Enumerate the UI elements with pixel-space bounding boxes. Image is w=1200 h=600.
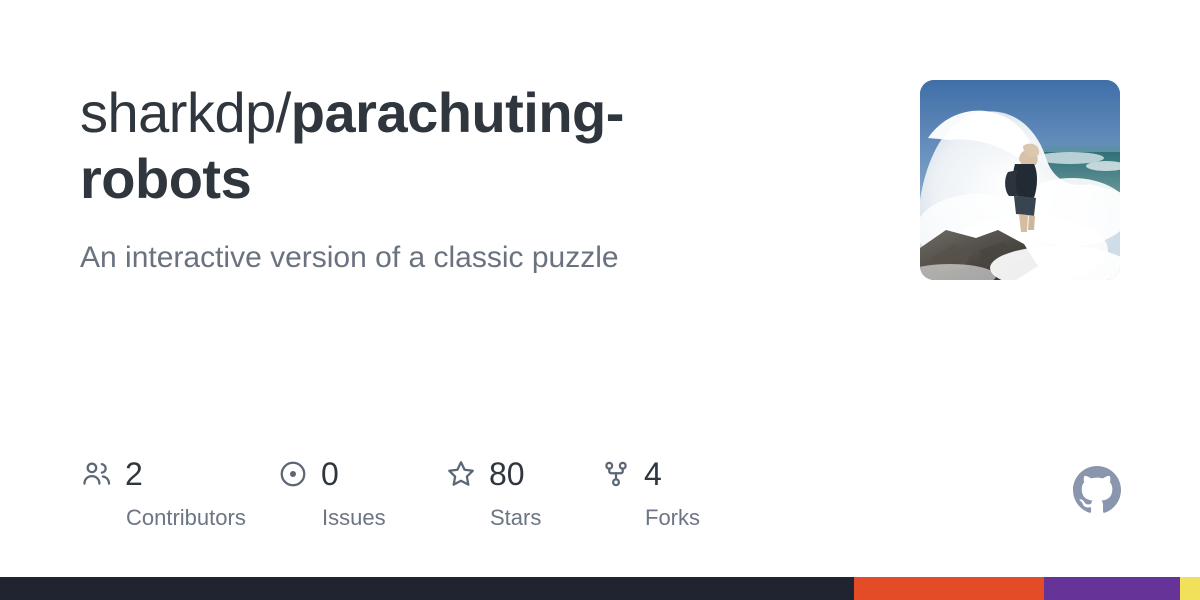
page-title: sharkdp/parachuting-robots [80,80,740,212]
repository-avatar [920,80,1120,280]
repository-social-card: sharkdp/parachuting-robots An interactiv… [0,0,1200,600]
repository-separator: / [276,81,291,144]
people-icon [80,457,114,491]
repo-forked-icon [599,457,633,491]
issue-opened-icon [276,457,310,491]
stat-issues-label: Issues [276,505,444,531]
stat-stars-label: Stars [444,505,599,531]
language-segment-3 [1044,577,1180,600]
stat-stars: 80 Stars [444,452,599,531]
stat-contributors-label: Contributors [80,505,276,531]
language-segment-2 [854,577,1044,600]
stat-stars-top: 80 [444,452,525,496]
stat-stars-value: 80 [489,458,525,490]
repository-description: An interactive version of a classic puzz… [80,212,780,277]
repository-stats: 2 Contributors 0 Issues [80,452,739,531]
repository-header: sharkdp/parachuting-robots An interactiv… [80,80,880,277]
stat-forks-top: 4 [599,452,662,496]
stat-contributors-value: 2 [125,458,143,490]
stat-contributors: 2 Contributors [80,452,276,531]
repository-owner: sharkdp [80,81,276,144]
stat-issues-value: 0 [321,458,339,490]
stat-issues: 0 Issues [276,452,444,531]
language-segment-1 [0,577,854,600]
language-segment-4 [1180,577,1200,600]
star-icon [444,457,478,491]
language-bar [0,577,1200,600]
stat-issues-top: 0 [276,452,339,496]
github-octocat-icon [1073,466,1121,514]
stat-forks-value: 4 [644,458,662,490]
stat-contributors-top: 2 [80,452,143,496]
stat-forks: 4 Forks [599,452,739,531]
stat-forks-label: Forks [599,505,739,531]
